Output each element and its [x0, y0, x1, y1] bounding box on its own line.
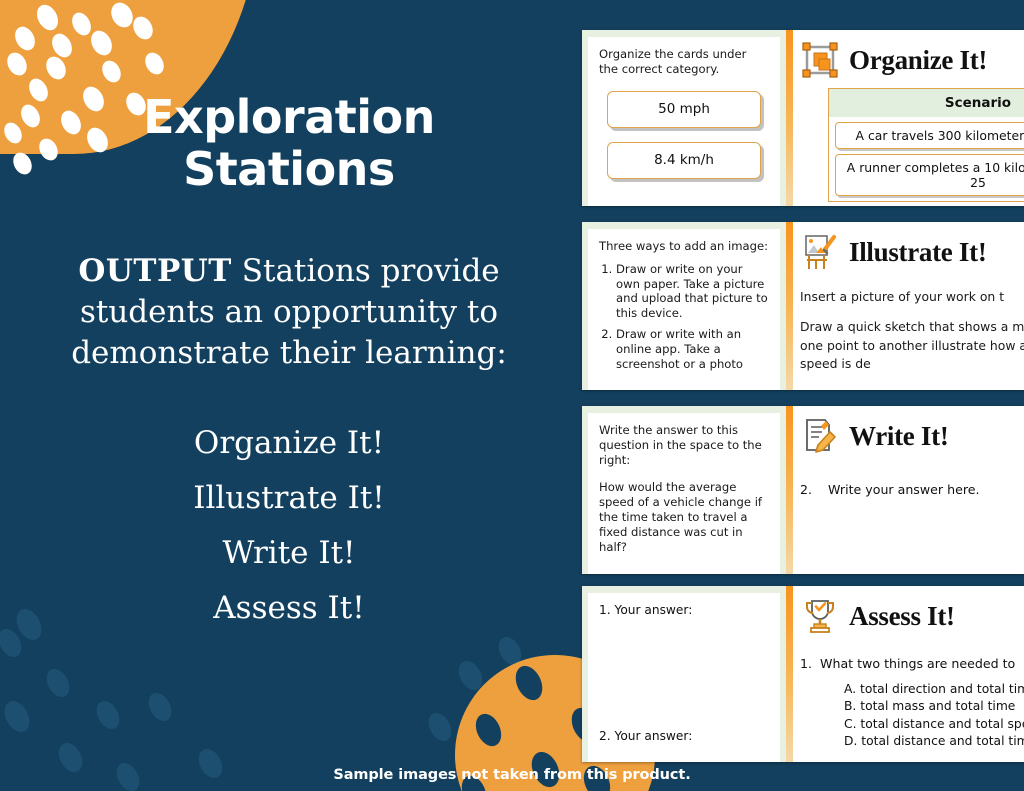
assess-answer-slot-1[interactable]: 1. Your answer: — [599, 603, 769, 619]
illustrate-paragraph-2: Draw a quick sketch that shows a moving … — [800, 318, 1024, 374]
card-write-it[interactable]: Write the answer to this question in the… — [582, 406, 1024, 574]
write-instructions-heading: Write the answer to this question in the… — [599, 423, 769, 467]
illustrate-card-header: Illustrate It! — [800, 232, 1024, 272]
organize-left-sheet: Organize the cards under the correct cat… — [588, 37, 780, 206]
assess-choice-list[interactable]: A. total direction and total tim B. tota… — [844, 681, 1024, 751]
write-left-sheet: Write the answer to this question in the… — [588, 413, 780, 574]
assess-left-pane: 1. Your answer: 2. Your answer: — [582, 586, 786, 762]
organize-card-title: Organize It! — [849, 45, 987, 76]
station-item-assess: Assess It! — [193, 581, 385, 636]
assess-right-pane: Assess It! 1. What two things are needed… — [786, 586, 1024, 762]
title-line-2: Stations — [143, 144, 435, 196]
station-item-write: Write It! — [193, 526, 385, 581]
assess-left-sheet: 1. Your answer: 2. Your answer: — [588, 593, 780, 762]
assess-choice-a[interactable]: A. total direction and total tim — [844, 681, 1024, 698]
scenario-row-2[interactable]: A runner completes a 10 kilometer race i… — [835, 154, 1024, 196]
organize-right-pane: Organize It! Scenario A car travels 300 … — [786, 30, 1024, 206]
orange-accent-bar — [786, 586, 793, 762]
station-name-list: Organize It! Illustrate It! Write It! As… — [193, 416, 385, 637]
write-question-prompt: How would the average speed of a vehicle… — [599, 480, 769, 554]
write-card-header: Write It! — [800, 416, 1024, 456]
body-description: OUTPUT Stations provide students an oppo… — [29, 251, 549, 374]
slide-canvas: Exploration Stations OUTPUT Stations pro… — [0, 0, 1024, 791]
illustrate-right-text: Insert a picture of your work on t Draw … — [800, 288, 1024, 374]
trophy-check-icon — [800, 596, 840, 636]
scenario-row-1[interactable]: A car travels 300 kilometers in 3 hours. — [835, 122, 1024, 149]
write-answer-row[interactable]: 2. Write your answer here. — [800, 482, 1024, 497]
assess-choice-d[interactable]: D. total distance and total tim — [844, 733, 1024, 750]
body-bold-lead: OUTPUT — [78, 253, 232, 289]
left-content-column: Exploration Stations OUTPUT Stations pro… — [0, 0, 578, 791]
assess-card-title: Assess It! — [849, 601, 955, 632]
illustrate-step-1: Draw or write on your own paper. Take a … — [616, 262, 769, 321]
organize-left-pane: Organize the cards under the correct cat… — [582, 30, 786, 206]
write-answer-number: 2. — [800, 482, 812, 497]
station-item-illustrate: Illustrate It! — [193, 471, 385, 526]
write-answer-placeholder[interactable]: Write your answer here. — [828, 482, 979, 497]
assess-right-inner: Assess It! 1. What two things are needed… — [786, 586, 1024, 762]
illustrate-right-pane: Illustrate It! Insert a picture of your … — [786, 222, 1024, 390]
station-item-organize: Organize It! — [193, 416, 385, 471]
illustrate-card-title: Illustrate It! — [849, 237, 987, 268]
orange-accent-bar — [786, 30, 793, 206]
card-illustrate-it[interactable]: Three ways to add an image: Draw or writ… — [582, 222, 1024, 390]
write-right-inner: Write It! 2. Write your answer here. — [786, 406, 1024, 574]
illustrate-left-pane: Three ways to add an image: Draw or writ… — [582, 222, 786, 390]
preview-card-stack: Organize the cards under the correct cat… — [578, 0, 1024, 791]
organize-chip-1[interactable]: 50 mph — [607, 91, 761, 128]
illustrate-left-sheet: Three ways to add an image: Draw or writ… — [588, 229, 780, 390]
organize-card-header: Organize It! — [800, 40, 1024, 80]
organize-shapes-icon — [800, 40, 840, 80]
page-title: Exploration Stations — [143, 92, 435, 195]
organize-instructions: Organize the cards under the correct cat… — [599, 47, 769, 77]
orange-accent-bar — [786, 406, 793, 574]
organize-chip-2[interactable]: 8.4 km/h — [607, 142, 761, 179]
write-right-pane: Write It! 2. Write your answer here. — [786, 406, 1024, 574]
assess-choice-c[interactable]: C. total distance and total spe — [844, 716, 1024, 733]
card-organize-it[interactable]: Organize the cards under the correct cat… — [582, 30, 1024, 206]
illustrate-right-inner: Illustrate It! Insert a picture of your … — [786, 222, 1024, 390]
assess-question-text: What two things are needed to — [820, 656, 1015, 671]
easel-paint-icon — [800, 232, 840, 272]
write-card-title: Write It! — [849, 421, 949, 452]
title-line-1: Exploration — [143, 92, 435, 144]
write-left-pane: Write the answer to this question in the… — [582, 406, 786, 574]
assess-card-header: Assess It! — [800, 596, 1024, 636]
assess-question-row: 1. What two things are needed to — [800, 656, 1024, 671]
assess-question-number: 1. — [800, 656, 812, 671]
illustrate-steps-list: Draw or write on your own paper. Take a … — [599, 262, 769, 372]
document-pencil-icon — [800, 416, 840, 456]
card-assess-it[interactable]: 1. Your answer: 2. Your answer: — [582, 586, 1024, 762]
illustrate-step-2: Draw or write with an online app. Take a… — [616, 327, 769, 371]
scenario-table: Scenario A car travels 300 kilometers in… — [828, 88, 1024, 202]
scenario-table-header: Scenario — [829, 88, 1024, 117]
illustrate-instructions-heading: Three ways to add an image: — [599, 239, 769, 254]
illustrate-paragraph-1: Insert a picture of your work on t — [800, 288, 1024, 306]
assess-choice-b[interactable]: B. total mass and total time — [844, 698, 1024, 715]
organize-right-inner: Organize It! Scenario A car travels 300 … — [786, 30, 1024, 206]
orange-accent-bar — [786, 222, 793, 390]
assess-answer-slot-2[interactable]: 2. Your answer: — [599, 729, 769, 745]
